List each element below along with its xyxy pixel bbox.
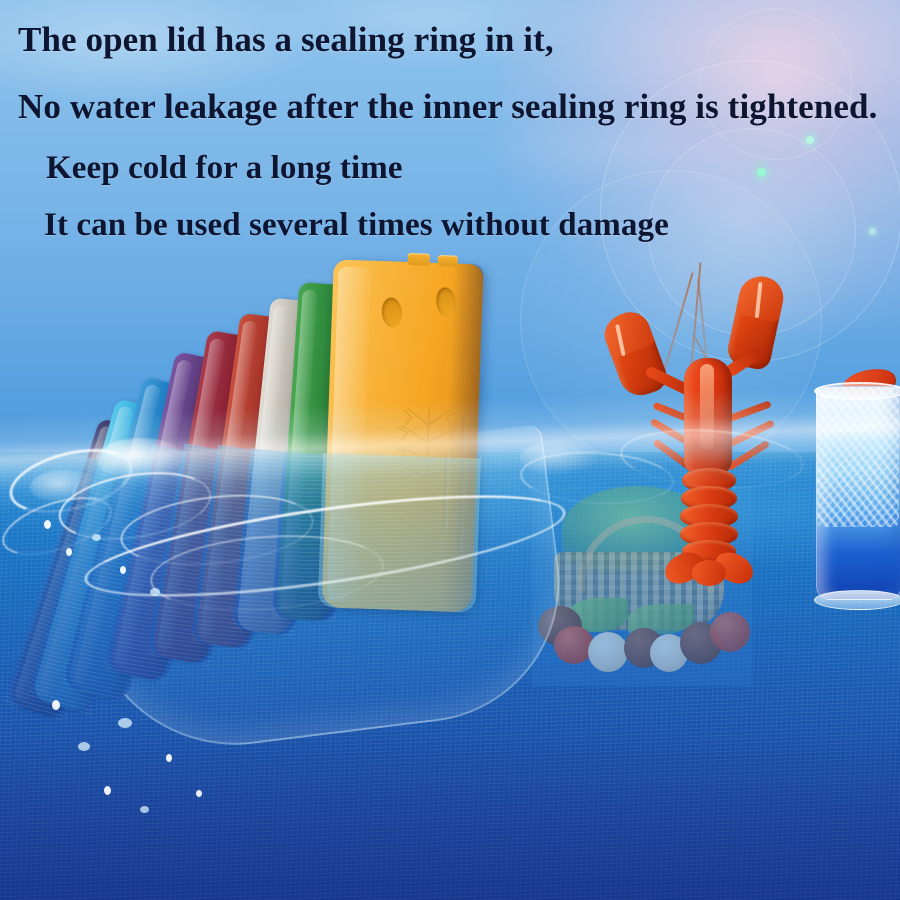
pack-indent	[380, 297, 403, 329]
headline-line-3: Keep cold for a long time	[46, 150, 403, 187]
headline-line-4: It can be used several times without dam…	[44, 207, 669, 244]
water-droplet	[66, 548, 72, 556]
product-banner: The open lid has a sealing ring in it, N…	[0, 0, 900, 900]
water-droplet	[44, 520, 51, 529]
water-droplet	[140, 806, 149, 813]
headline-line-1: The open lid has a sealing ring in it,	[18, 20, 554, 60]
water-splash	[520, 440, 600, 476]
water-droplet	[166, 754, 172, 762]
water-droplet	[120, 566, 126, 574]
water-droplet	[118, 718, 132, 728]
water-splash	[30, 470, 100, 504]
water-droplet	[104, 786, 111, 795]
headline-line-2: No water leakage after the inner sealing…	[18, 87, 877, 127]
water-droplet	[150, 588, 160, 596]
water-splash	[96, 438, 186, 480]
water-droplet	[78, 742, 90, 751]
water-droplet	[196, 790, 202, 797]
water-droplet	[52, 700, 60, 710]
headline-copy: The open lid has a sealing ring in it, N…	[0, 0, 900, 270]
water-droplet	[92, 534, 101, 541]
